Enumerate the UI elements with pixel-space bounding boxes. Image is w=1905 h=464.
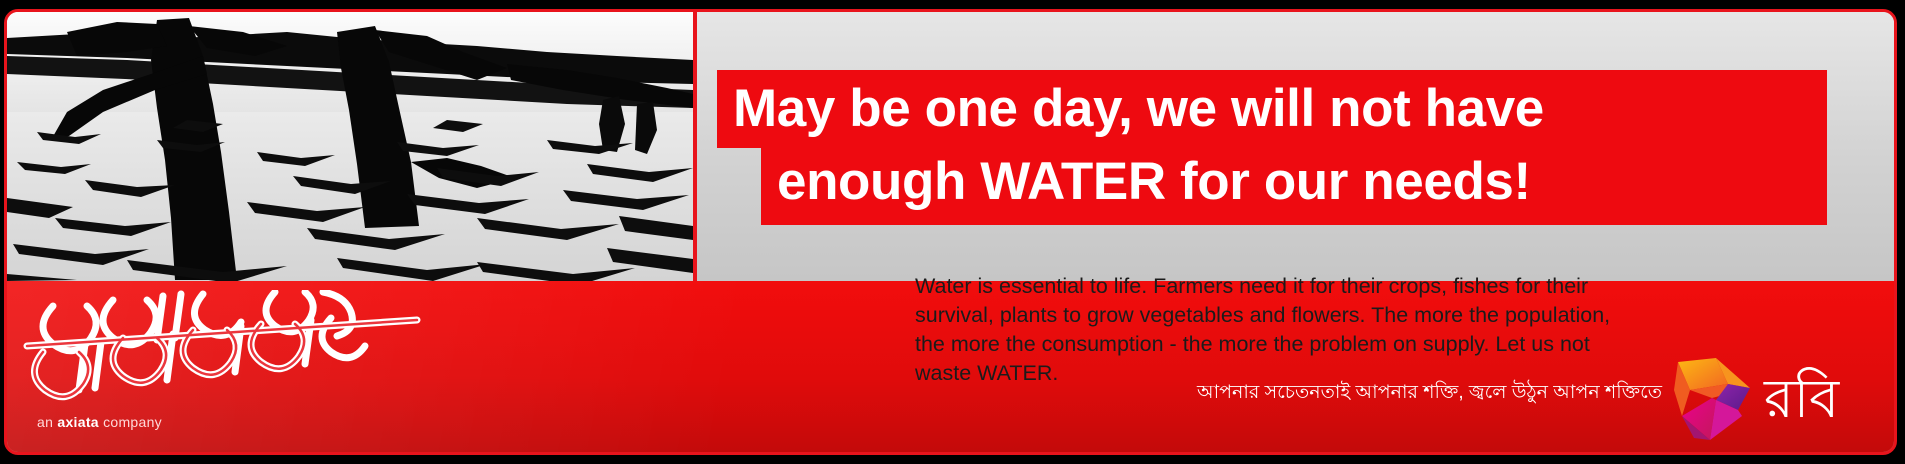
banner-frame: May be one day, we will not have enough … bbox=[4, 9, 1897, 455]
headline-line-2: enough WATER for our needs! bbox=[761, 148, 1827, 225]
dead-tree-photo bbox=[7, 12, 693, 281]
robi-water-awareness-banner: May be one day, we will not have enough … bbox=[0, 0, 1905, 464]
axiata-suffix: company bbox=[99, 414, 162, 430]
footer-tagline: আপনার সচেতনতাই আপনার শক্তি, জ্বলে উঠুন আ… bbox=[1197, 381, 1662, 405]
robi-arrow-icon bbox=[1672, 356, 1754, 442]
robi-wordmark: রবি bbox=[1764, 372, 1839, 426]
body-paragraph: Water is essential to life. Farmers need… bbox=[915, 272, 1645, 388]
banner-upper-section: May be one day, we will not have enough … bbox=[7, 12, 1894, 281]
decorative-bengali-script bbox=[13, 290, 433, 410]
axiata-endorsement: an axiata company bbox=[37, 414, 162, 430]
axiata-prefix: an bbox=[37, 414, 57, 430]
axiata-brand: axiata bbox=[57, 414, 99, 430]
headline-line-1: May be one day, we will not have bbox=[717, 70, 1827, 148]
headline: May be one day, we will not have enough … bbox=[717, 70, 1827, 225]
robi-logo: রবি bbox=[1672, 355, 1872, 443]
